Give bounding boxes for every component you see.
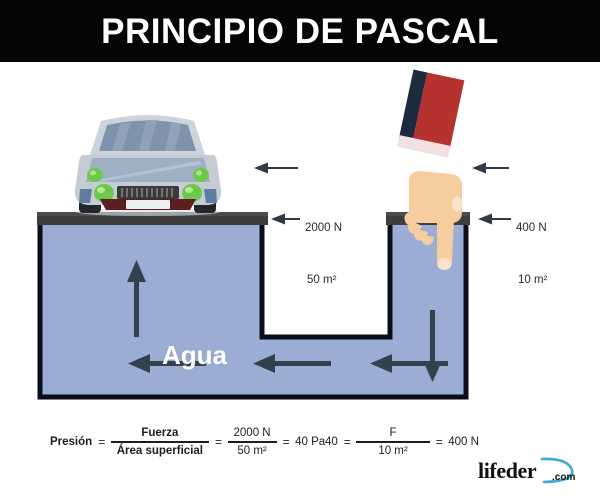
fluid-label: Agua bbox=[162, 340, 227, 371]
water-fill bbox=[40, 225, 466, 395]
formula-left-fraction-2: 2000 N 50 m² bbox=[228, 426, 277, 459]
arrow-to-hand bbox=[472, 163, 509, 174]
formula-row: Presión = Fuerza Área superficial = 2000… bbox=[0, 420, 600, 462]
label-force-small: 400 N bbox=[516, 222, 547, 234]
formula-right-fraction: F 10 m² bbox=[356, 426, 429, 459]
arrow-to-piston-large bbox=[271, 214, 300, 225]
car-illustration bbox=[75, 115, 221, 216]
formula-left-result: 40 Pa bbox=[295, 436, 325, 448]
formula-left-numerator-2: 2000 N bbox=[228, 426, 277, 441]
label-force-large: 2000 N bbox=[305, 222, 342, 234]
title-banner: PRINCIPIO DE PASCAL bbox=[0, 0, 600, 62]
label-area-large: 50 m² bbox=[307, 274, 336, 286]
arrow-to-piston-small bbox=[478, 214, 511, 225]
arrow-to-car bbox=[254, 163, 298, 174]
water-container bbox=[40, 222, 466, 397]
page-title: PRINCIPIO DE PASCAL bbox=[101, 14, 499, 49]
hydraulic-press-diagram bbox=[0, 62, 600, 420]
pascal-principle-infographic: PRINCIPIO DE PASCAL bbox=[0, 0, 600, 500]
logo-tld: .com bbox=[552, 472, 575, 483]
formula-left-denominator-2: 50 m² bbox=[231, 443, 272, 458]
formula-left-equals-3: = bbox=[283, 435, 290, 449]
formula-right-result: 400 N bbox=[448, 436, 479, 448]
formula-left-numerator-1: Fuerza bbox=[135, 426, 184, 441]
formula-right-denominator: 10 m² bbox=[356, 443, 429, 458]
formula-right-label: 40 bbox=[325, 436, 338, 448]
formula-left-fraction-1: Fuerza Área superficial bbox=[111, 426, 209, 459]
hand-palm bbox=[409, 171, 462, 223]
formula-left-equals-1: = bbox=[98, 435, 105, 449]
lifeder-logo: lifeder .com bbox=[478, 458, 590, 492]
formula-right-equals-1: = bbox=[344, 435, 351, 449]
formula-left-label: Presión bbox=[50, 436, 92, 448]
pressure-formula-left: Presión = Fuerza Área superficial = 2000… bbox=[50, 426, 325, 459]
diagram-stage: 2000 N 400 N 50 m² 10 m² Agua bbox=[0, 62, 600, 420]
label-area-small: 10 m² bbox=[518, 274, 547, 286]
logo-wordmark: lifeder bbox=[478, 458, 536, 484]
pressure-formula-right: 40 = F 10 m² = 400 N bbox=[325, 426, 479, 459]
formula-left-equals-2: = bbox=[215, 435, 222, 449]
formula-right-equals-2: = bbox=[436, 435, 443, 449]
label-arrows bbox=[254, 163, 511, 225]
formula-left-denominator-1: Área superficial bbox=[111, 443, 209, 458]
formula-right-numerator: F bbox=[368, 426, 419, 441]
